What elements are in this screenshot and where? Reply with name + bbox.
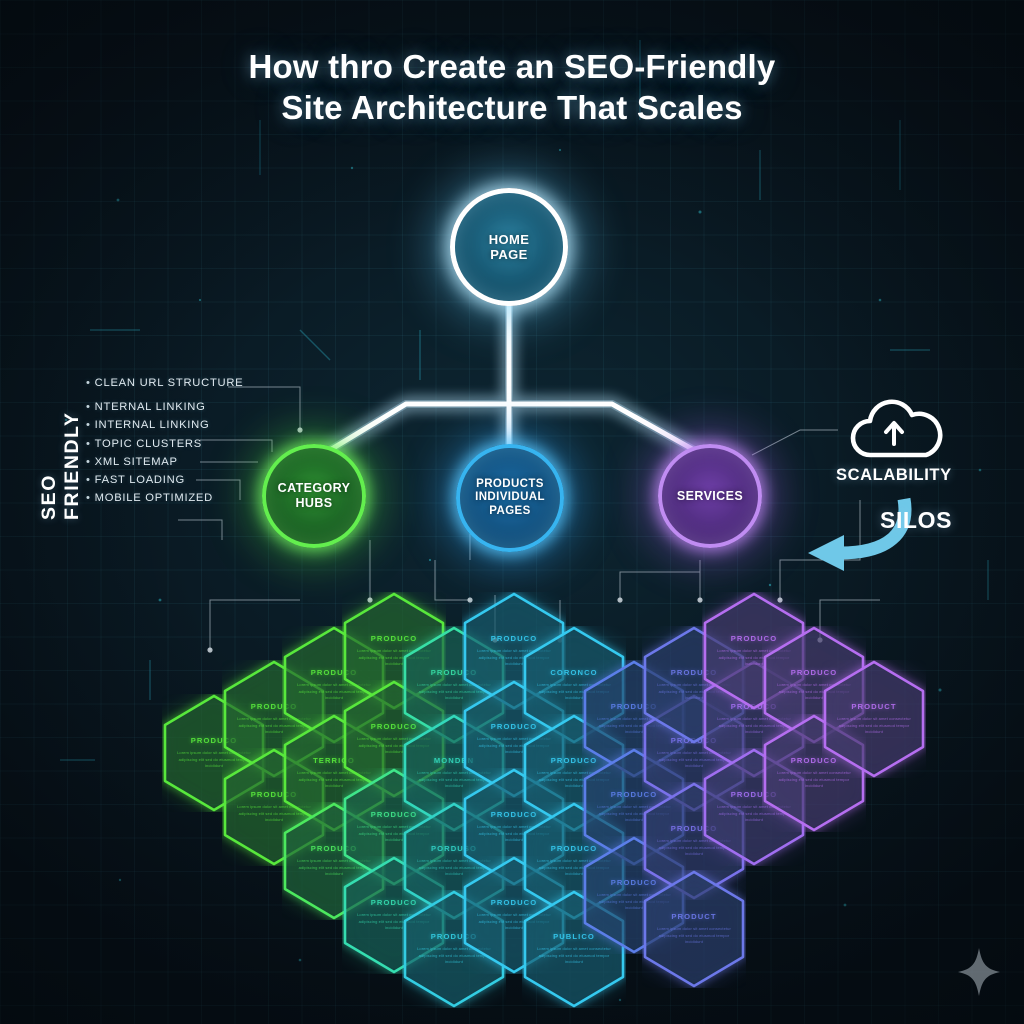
seo-list-item[interactable]: •NTERNAL LINKING bbox=[86, 402, 316, 413]
node-services-label: SERVICES bbox=[671, 489, 749, 504]
seo-list-item-label: INTERNAL LINKING bbox=[95, 419, 210, 431]
products-line-2: INDIVIDUAL bbox=[475, 491, 545, 505]
title-line-1: How thro Create an SEO-Friendly bbox=[0, 46, 1024, 87]
seo-list-item-label: XML SITEMAP bbox=[95, 456, 178, 468]
products-line-3: PAGES bbox=[475, 505, 545, 519]
seo-list-item[interactable]: •FAST LOADING bbox=[86, 475, 316, 486]
seo-list-item[interactable]: •MOBILE OPTIMIZED bbox=[86, 493, 316, 504]
seo-list-item[interactable]: •INTERNAL LINKING bbox=[86, 420, 316, 431]
hexagon-outline bbox=[822, 660, 926, 778]
seo-list-item[interactable]: •TOPIC CLUSTERS bbox=[86, 439, 316, 450]
silos-label: SILOS bbox=[880, 507, 952, 534]
page-title: How thro Create an SEO-Friendly Site Arc… bbox=[0, 46, 1024, 128]
bullet-icon: • bbox=[86, 377, 91, 389]
bullet-icon: • bbox=[86, 474, 91, 486]
seo-list-item-label: MOBILE OPTIMIZED bbox=[95, 492, 213, 504]
infographic-canvas: How thro Create an SEO-Friendly Site Arc… bbox=[0, 0, 1024, 1024]
home-line-1: HOME bbox=[489, 232, 530, 247]
bullet-icon: • bbox=[86, 401, 91, 413]
seo-list-item[interactable]: •XML SITEMAP bbox=[86, 457, 316, 468]
bullet-icon: • bbox=[86, 419, 91, 431]
bullet-icon: • bbox=[86, 438, 91, 450]
node-home-page-label: HOME PAGE bbox=[483, 232, 536, 263]
title-line-2: Site Architecture That Scales bbox=[0, 87, 1024, 128]
seo-friendly-heading: SEO FRIENDLY bbox=[38, 368, 84, 520]
seo-friendly-list: •CLEAN URL STRUCTURE •NTERNAL LINKING •I… bbox=[86, 378, 316, 511]
home-line-2: PAGE bbox=[489, 247, 530, 262]
sparkle-icon bbox=[956, 946, 1002, 998]
seo-list-item-label: NTERNAL LINKING bbox=[95, 401, 206, 413]
bullet-icon: • bbox=[86, 456, 91, 468]
cloud-upload-icon bbox=[842, 398, 946, 460]
scalability-label: SCALABILITY bbox=[836, 466, 952, 485]
scalability-block: SCALABILITY bbox=[836, 398, 952, 485]
seo-list-item-label: FAST LOADING bbox=[95, 474, 185, 486]
node-products-individual-pages[interactable]: PRODUCTS INDIVIDUAL PAGES bbox=[456, 444, 564, 552]
node-home-page[interactable]: HOME PAGE bbox=[450, 188, 568, 306]
products-line-1: PRODUCTS bbox=[475, 478, 545, 492]
seo-list-item[interactable]: •CLEAN URL STRUCTURE bbox=[86, 378, 316, 389]
services-line-1: SERVICES bbox=[677, 489, 743, 504]
seo-list-item-label: TOPIC CLUSTERS bbox=[95, 438, 202, 450]
seo-list-item-label: CLEAN URL STRUCTURE bbox=[95, 377, 244, 389]
node-services[interactable]: SERVICES bbox=[658, 444, 762, 548]
bullet-icon: • bbox=[86, 492, 91, 504]
hexagon-outline bbox=[642, 870, 746, 988]
hexagon-cell[interactable]: PRODUCTLorem ipsum dolor sit amet consec… bbox=[642, 870, 746, 988]
node-products-label: PRODUCTS INDIVIDUAL PAGES bbox=[469, 478, 551, 519]
hexagon-cell[interactable]: PRODUCTLorem ipsum dolor sit amet consec… bbox=[822, 660, 926, 778]
